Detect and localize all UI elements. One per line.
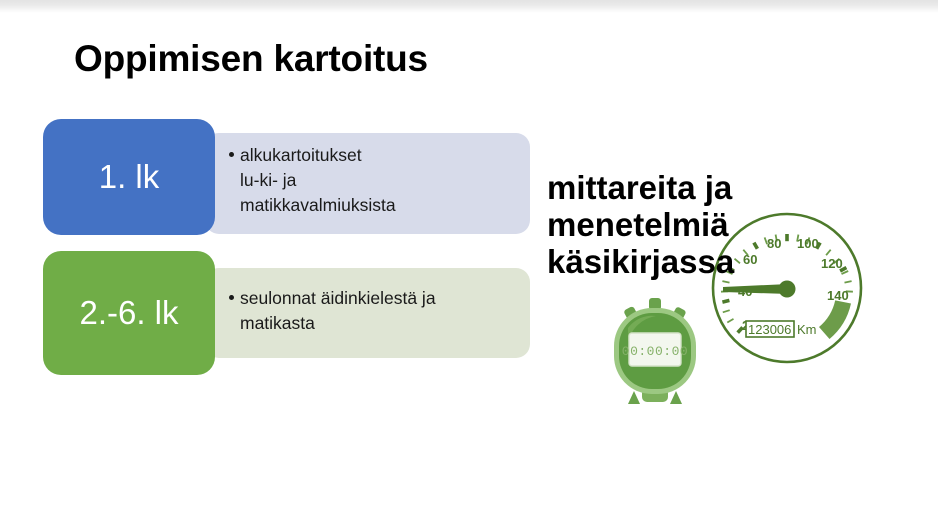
odometer-unit: Km	[797, 322, 817, 337]
slide-canvas: Oppimisen kartoitus alkukartoitukset lu-…	[0, 0, 938, 524]
page-title: Oppimisen kartoitus	[74, 38, 428, 80]
stopwatch-icon: 00:00:00	[604, 296, 706, 408]
grade-label-text-1: 1. lk	[99, 158, 160, 196]
gauge-tick-140: 140	[827, 288, 849, 303]
stopwatch-display-value: 00:00:00	[622, 344, 688, 359]
description-text-2: seulonnat äidinkielestä ja matikasta	[240, 286, 525, 336]
bullet-dot-icon	[229, 152, 234, 157]
description-text-1: alkukartoitukset lu-ki- ja matikkavalmiu…	[240, 143, 520, 218]
top-gradient-band	[0, 0, 938, 13]
grade-label-text-2: 2.-6. lk	[79, 294, 178, 332]
right-caption: mittareita ja menetelmiä käsikirjassa	[547, 170, 867, 281]
grade-label-box-2: 2.-6. lk	[43, 251, 215, 375]
odometer-value: 123006	[748, 322, 791, 337]
bullet-dot-icon	[229, 295, 234, 300]
grade-label-box-1: 1. lk	[43, 119, 215, 235]
